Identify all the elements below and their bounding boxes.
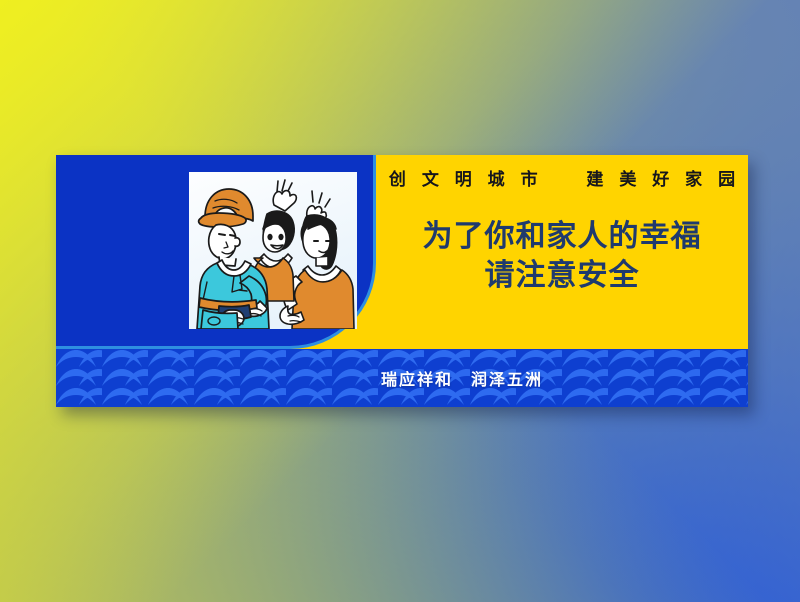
family-safety-illustration [189,172,357,329]
wave-pattern-strip: 瑞应祥和 润泽五洲 [56,349,748,407]
top-slogan: 创 文 明 城 市 建 美 好 家 园 [376,165,748,190]
headline: 为了你和家人的幸福 请注意安全 [376,217,748,295]
headline-line-2: 请注意安全 [376,256,748,295]
blue-left-panel [56,155,376,349]
headline-line-1: 为了你和家人的幸福 [376,217,748,256]
footer-slogan: 瑞应祥和 润泽五洲 [56,349,748,407]
poster-banner: 创 文 明 城 市 建 美 好 家 园 为了你和家人的幸福 请注意安全 瑞应祥和 [56,155,748,407]
poster-text-block: 创 文 明 城 市 建 美 好 家 园 为了你和家人的幸福 请注意安全 [376,155,748,349]
